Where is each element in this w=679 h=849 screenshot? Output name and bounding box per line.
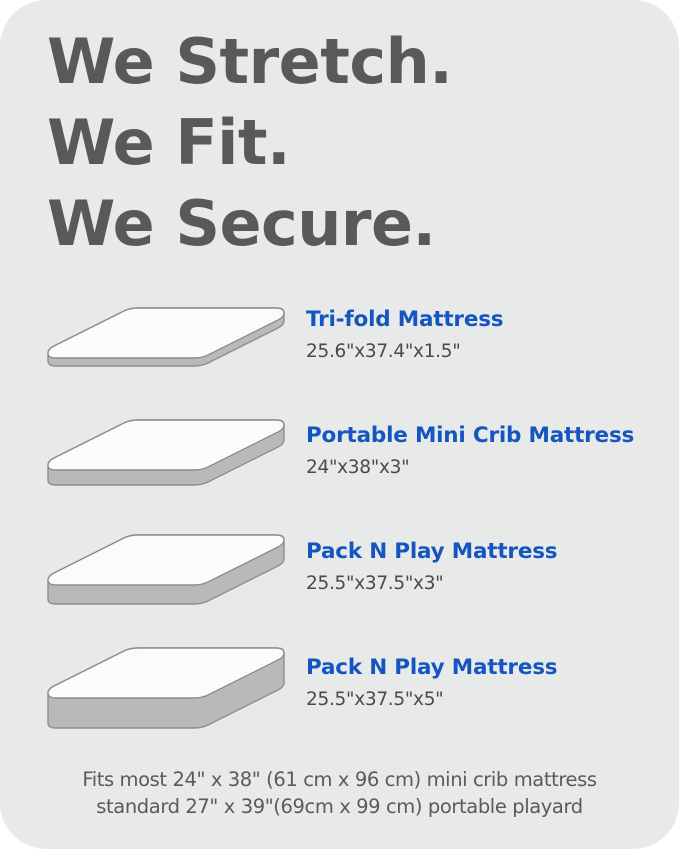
mattress-slab-icon xyxy=(38,411,294,527)
product-dimensions: 25.6"x37.4"x1.5" xyxy=(306,340,666,363)
fit-note-line-2: standard 27" x 39"(69cm x 99 cm) portabl… xyxy=(0,793,679,820)
headline-line-1: We Stretch. xyxy=(47,21,607,102)
headline: We Stretch. We Fit. We Secure. xyxy=(47,21,607,264)
headline-line-3: We Secure. xyxy=(47,183,607,264)
product-name: Pack N Play Mattress xyxy=(306,539,666,565)
product-text: Pack N Play Mattress 25.5"x37.5"x3" xyxy=(306,539,666,595)
product-row: Pack N Play Mattress 25.5"x37.5"x5" xyxy=(0,643,679,759)
fit-note: Fits most 24" x 38" (61 cm x 96 cm) mini… xyxy=(0,766,679,820)
product-name: Pack N Play Mattress xyxy=(306,655,666,681)
product-row: Pack N Play Mattress 25.5"x37.5"x3" xyxy=(0,527,679,643)
product-dimensions: 25.5"x37.5"x3" xyxy=(306,572,666,595)
headline-line-2: We Fit. xyxy=(47,102,607,183)
product-row: Tri-fold Mattress 25.6"x37.4"x1.5" xyxy=(0,295,679,411)
product-text: Pack N Play Mattress 25.5"x37.5"x5" xyxy=(306,655,666,711)
product-list: Tri-fold Mattress 25.6"x37.4"x1.5" Porta… xyxy=(0,295,679,759)
product-name: Tri-fold Mattress xyxy=(306,307,666,333)
product-row: Portable Mini Crib Mattress 24"x38"x3" xyxy=(0,411,679,527)
fit-note-line-1: Fits most 24" x 38" (61 cm x 96 cm) mini… xyxy=(0,766,679,793)
mattress-slab-icon xyxy=(38,527,294,643)
mattress-slab-icon xyxy=(38,643,294,759)
product-info-card: We Stretch. We Fit. We Secure. Tri-fold … xyxy=(0,0,679,849)
product-name: Portable Mini Crib Mattress xyxy=(306,423,666,449)
product-text: Portable Mini Crib Mattress 24"x38"x3" xyxy=(306,423,666,479)
mattress-slab-icon xyxy=(38,295,294,411)
product-text: Tri-fold Mattress 25.6"x37.4"x1.5" xyxy=(306,307,666,363)
product-dimensions: 24"x38"x3" xyxy=(306,456,666,479)
product-dimensions: 25.5"x37.5"x5" xyxy=(306,688,666,711)
